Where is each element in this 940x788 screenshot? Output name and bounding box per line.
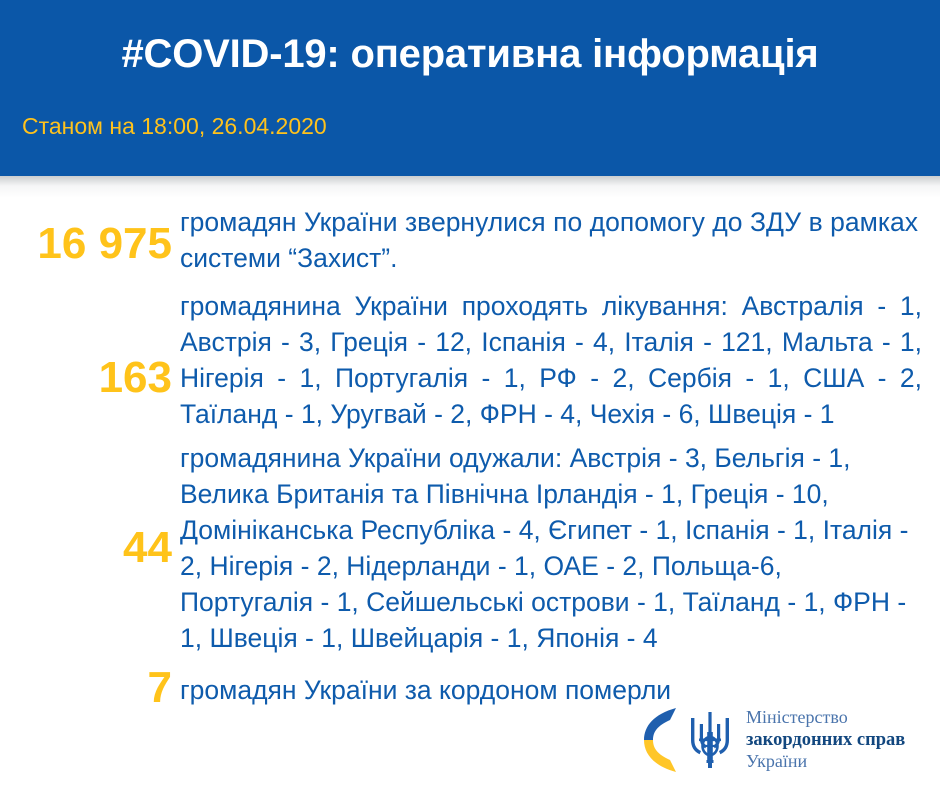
mfa-logo-line-1: Міністерство bbox=[746, 707, 905, 729]
header-banner: #COVID-19: оперативна інформація Станом … bbox=[0, 0, 940, 176]
flag-arc-icon bbox=[640, 704, 680, 776]
mfa-logo: Міністерство закордонних справ України bbox=[640, 700, 930, 780]
stat-row-requests: 16 975 громадян України звернулися по до… bbox=[0, 204, 940, 276]
page-title: #COVID-19: оперативна інформація bbox=[0, 32, 940, 77]
stat-number-recovered: 44 bbox=[0, 440, 180, 570]
stat-number-treatment: 163 bbox=[0, 288, 180, 400]
stat-row-recovered: 44 громадянина України одужали: Австрія … bbox=[0, 440, 940, 656]
stat-text-requests: громадян України звернулися по допомогу … bbox=[180, 204, 940, 276]
statistics-list: 16 975 громадян України звернулися по до… bbox=[0, 198, 940, 710]
status-timestamp: Станом на 18:00, 26.04.2020 bbox=[22, 113, 327, 140]
stat-number-deaths: 7 bbox=[0, 666, 180, 710]
header-shadow-divider bbox=[0, 176, 940, 198]
mfa-logo-line-2: закордонних справ bbox=[746, 729, 905, 752]
trident-emblem-icon bbox=[686, 710, 734, 770]
stat-text-treatment: громадянина України проходять лікування:… bbox=[180, 288, 940, 432]
mfa-logo-line-3: України bbox=[746, 751, 905, 773]
stat-number-requests: 16 975 bbox=[0, 204, 180, 266]
stat-row-treatment: 163 громадянина України проходять лікува… bbox=[0, 288, 940, 432]
stat-text-recovered: громадянина України одужали: Австрія - 3… bbox=[180, 440, 940, 656]
mfa-logo-text: Міністерство закордонних справ України bbox=[746, 707, 905, 773]
